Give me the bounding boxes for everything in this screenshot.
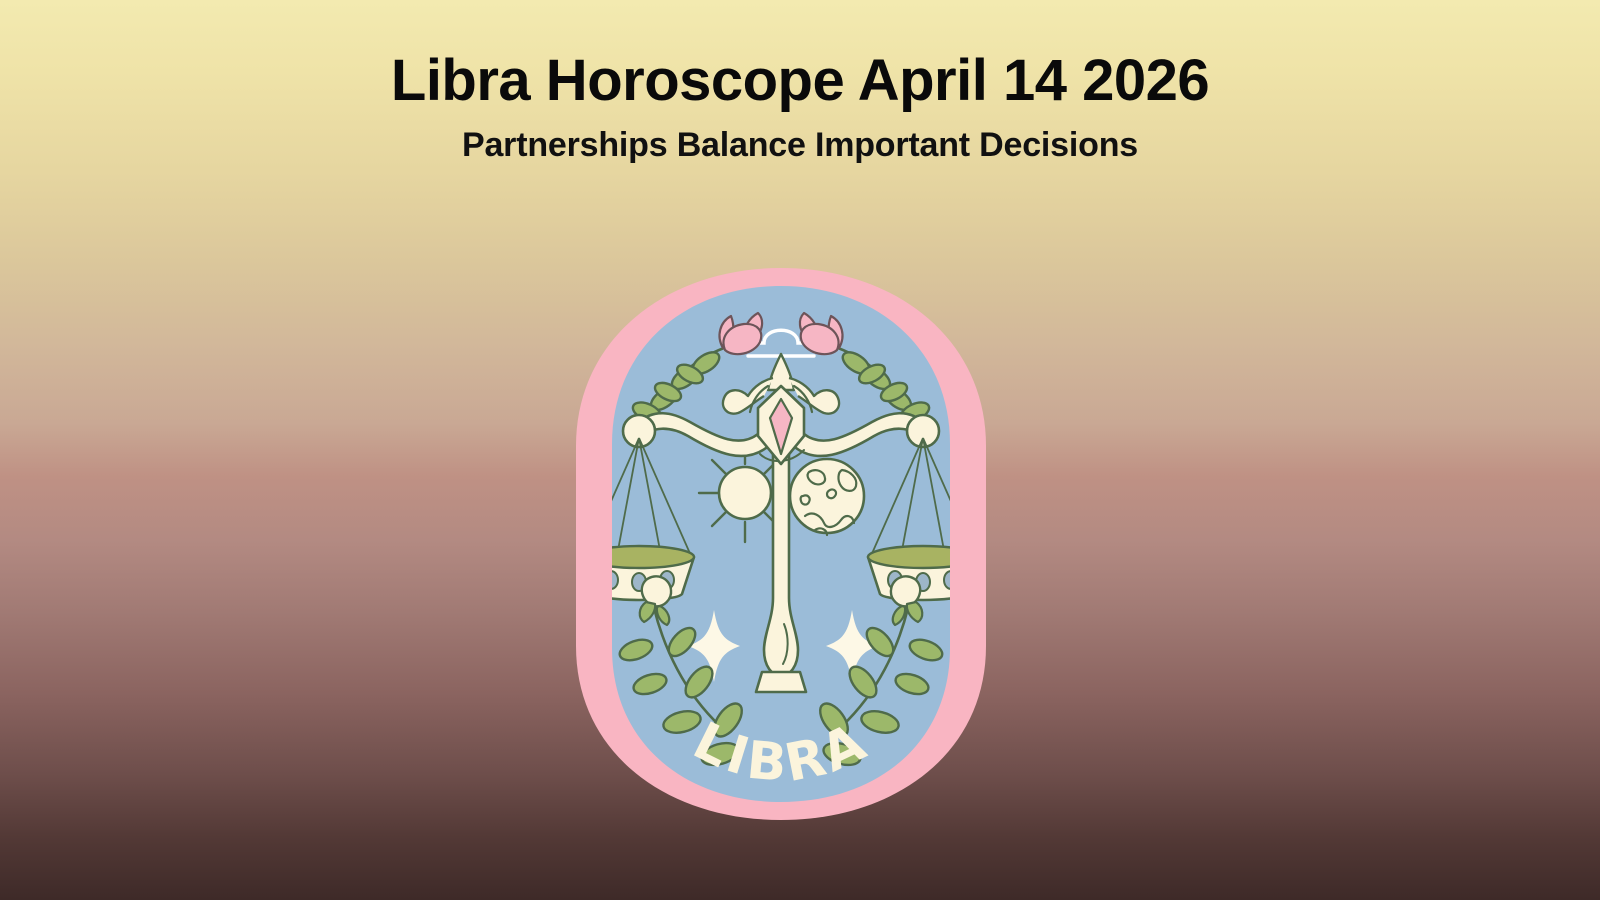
- moon-icon: [790, 459, 864, 535]
- page-root: Libra Horoscope April 14 2026 Partnershi…: [0, 0, 1600, 900]
- header: Libra Horoscope April 14 2026 Partnershi…: [0, 0, 1600, 164]
- libra-badge: LIBRA: [568, 268, 994, 820]
- page-title: Libra Horoscope April 14 2026: [0, 50, 1600, 113]
- scales-base: [756, 672, 806, 692]
- page-subtitle: Partnerships Balance Important Decisions: [0, 127, 1600, 164]
- libra-badge-illustration: LIBRA: [568, 268, 994, 820]
